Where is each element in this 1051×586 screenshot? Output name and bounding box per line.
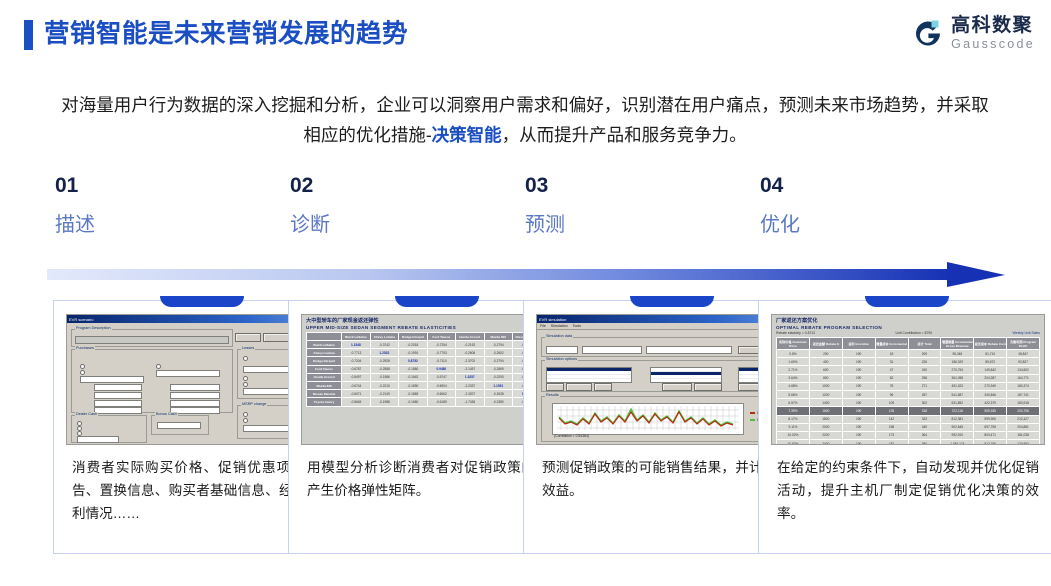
step-2: 02 诊断 (290, 175, 490, 235)
cell: 400 (809, 358, 842, 366)
optimal-rebate-table: 实际价格 Customer Price 返还金额 Rebate $ 返利 Inc… (776, 337, 1040, 445)
cell: 2.71% (777, 366, 810, 374)
table-row: 0.8% 200 190 18 209 95,348 81,710 48,847 (777, 350, 1040, 358)
step-4: 04 优化 (760, 175, 960, 235)
group-label-simulation-options: Simulation options (545, 357, 578, 361)
card-optimize[interactable]: 厂家返还方案优化 OPTIMAL REBATE PROGRAM SELECTIO… (758, 300, 1051, 554)
cell: -0.5645 (342, 398, 370, 406)
col-header: 方案利润 Program Profit (1007, 338, 1040, 350)
cell: -0.2606 (456, 349, 484, 357)
cell: 697,798 (974, 423, 1007, 431)
cell: -0.2602 (484, 349, 512, 357)
interval-select[interactable] (546, 346, 578, 354)
cell: 2200 (809, 431, 842, 439)
cell: 1.60% (777, 358, 810, 366)
cell: 4.68% (777, 382, 810, 390)
cell: -0.1642 (399, 373, 427, 381)
col-header: Ford Taurus (427, 333, 455, 341)
intro-paragraph: 对海量用户行为数据的深入挖掘和分析，企业可以洞察用户需求和偏好，识别潜在用户痛点… (55, 90, 995, 150)
cell: 270,754 (941, 366, 974, 374)
cell: 183,918 (1007, 399, 1040, 407)
cell: 380 (908, 440, 941, 445)
cell: 364 (908, 431, 941, 439)
cell: 1600 (809, 407, 842, 415)
cell: 318 (908, 407, 941, 415)
group-label-bonus-cash: Bonus Cash (155, 412, 178, 416)
step-3-label: 预测 (525, 215, 725, 235)
cell: 204,287 (974, 374, 1007, 382)
cell: 8.17% (777, 415, 810, 423)
cell: 190 (842, 407, 875, 415)
table-row: 3.64% 800 190 62 258 361,058 204,287 164… (777, 374, 1040, 382)
cell: 96 (875, 390, 908, 398)
col-header: Honda Accord (456, 333, 484, 341)
cell: 81,710 (974, 350, 1007, 358)
cell: -2.3702 (456, 357, 484, 365)
table-row: 10.93% 2400 190 187 380 1,083,174 912,18… (777, 440, 1040, 445)
scenario-row[interactable] (547, 375, 631, 379)
cell: 5.66% (777, 390, 810, 398)
rebate-elasticity-value: Rebate elasticity = 0.8712 (776, 331, 815, 336)
radio-no-apr-subvention[interactable] (80, 370, 85, 375)
cell: 89,672 (974, 358, 1007, 366)
col-header: Buick LeSabre (342, 333, 370, 341)
group-label-program-description: Program Description (75, 326, 112, 330)
col-header: 增量成本 Incremental (875, 338, 908, 350)
cell: 600 (809, 366, 842, 374)
row-header: Mazda 626 (307, 381, 342, 389)
col-header: 增量销量 Incremental Gross Revenue (941, 338, 974, 350)
cell: 0.8752 (399, 357, 427, 365)
group-purchases: Purchases (71, 349, 233, 413)
row-header: Ford Taurus (307, 365, 342, 373)
cell: 1800 (809, 415, 842, 423)
cell: 803,471 (974, 431, 1007, 439)
logo-mark-icon (912, 17, 944, 49)
segment-select[interactable] (582, 346, 642, 354)
logo-text: 高科数聚 Gausscode (951, 16, 1035, 51)
cell: 134,502 (1007, 366, 1040, 374)
step-1-number: 01 (55, 175, 255, 196)
simulation-title-text: EVR simulation (539, 317, 566, 322)
cell: 1.1591 (484, 381, 512, 389)
cell: 190 (842, 399, 875, 407)
card-tab-accent (865, 296, 949, 307)
cell: 10.93% (777, 440, 810, 445)
cell: -0.6062 (427, 390, 455, 398)
cell: 158 (875, 423, 908, 431)
card-tab-accent (160, 296, 244, 307)
region-select[interactable] (646, 346, 732, 354)
page-title: 营销智能是未来营销发展的趋势 (44, 22, 408, 48)
cell: 164,771 (1007, 374, 1040, 382)
cell: 422,379 (974, 399, 1007, 407)
table-row: 9.11% 2000 190 158 349 902,645 697,798 2… (777, 423, 1040, 431)
cell: 1000 (809, 382, 842, 390)
cell: -0.5747 (427, 373, 455, 381)
cell: -2.2337 (456, 381, 484, 389)
term-48-input[interactable] (94, 400, 142, 407)
cell: 302 (908, 399, 941, 407)
cell: 190 (842, 366, 875, 374)
card-screenshot-optimal: 厂家返还方案优化 OPTIMAL REBATE PROGRAM SELECTIO… (771, 314, 1045, 445)
cell: -0.2210 (370, 381, 398, 389)
col-header: 返利 Incentive (842, 338, 875, 350)
logo-name-cn: 高科数聚 (951, 16, 1035, 35)
group-label-dealer-cash: Dealer Cash (75, 412, 98, 416)
add-button[interactable] (546, 383, 564, 391)
simulation-line-chart (552, 403, 744, 435)
col-header: 总计 Total (908, 338, 941, 350)
col-header: Mazda 626 (484, 333, 512, 341)
cell: -0.7254 (427, 341, 455, 349)
cell: 181,038 (1007, 431, 1040, 439)
cell: 142 (875, 415, 908, 423)
table-header-row: 实际价格 Customer Price 返还金额 Rebate $ 返利 Inc… (777, 338, 1040, 350)
col-header: Chevy Lumina (370, 333, 398, 341)
cell: -0.1991 (399, 349, 427, 357)
intro-highlight: 决策智能 (432, 125, 502, 145)
cell: 451,323 (941, 382, 974, 390)
optimal-table-wrap: 厂家返还方案优化 OPTIMAL REBATE PROGRAM SELECTIO… (772, 315, 1044, 444)
cell: -0.5497 (342, 373, 370, 381)
cell: 190 (842, 358, 875, 366)
cell: 270,949 (974, 382, 1007, 390)
cell: 2000 (809, 423, 842, 431)
scenario-listbox[interactable] (546, 367, 632, 383)
step-4-number: 04 (760, 175, 960, 196)
weekly-unit-sales-label: Weekly Unit Sales (1013, 331, 1040, 336)
table-row: 1.60% 400 190 31 226 186,329 89,672 92,8… (777, 358, 1040, 366)
cell: -0.6189 (427, 398, 455, 406)
cell: 722,116 (941, 407, 974, 415)
table-row-highlighted: 7.39% 1600 190 125 318 722,116 509,335 2… (777, 407, 1040, 415)
cell: 47 (875, 366, 908, 374)
step-labels: 01 描述 02 诊断 03 预测 04 优化 (0, 175, 1051, 250)
step-1: 01 描述 (55, 175, 255, 235)
cell: 509,335 (974, 407, 1007, 415)
cell: 1,083,174 (941, 440, 974, 445)
radio-not-offered[interactable] (156, 364, 161, 369)
col-header: 返还成本 Rebate Cost (974, 338, 1007, 350)
cell: 631,852 (941, 399, 974, 407)
cell: 912,186 (974, 440, 1007, 445)
cell: 187,741 (1007, 390, 1040, 398)
cell: 78 (875, 382, 908, 390)
cell: -0.2293 (484, 373, 512, 381)
optimal-title-cn: 厂家返还方案优化 (776, 318, 1040, 325)
table-row: 8.17% 1800 190 142 333 812,381 599,906 2… (777, 415, 1040, 423)
cell: -0.2638 (484, 390, 512, 398)
group-label-purchases: Purchases (75, 346, 95, 350)
cell: 180,374 (1007, 382, 1040, 390)
cell: -0.3742 (370, 341, 398, 349)
cell: -0.2669 (484, 365, 512, 373)
row-header: Dodge Intrepid (307, 357, 342, 365)
brand-logo: 高科数聚 Gausscode (912, 16, 1035, 51)
cell: 271 (908, 382, 941, 390)
title-group: 营销智能是未来营销发展的趋势 (24, 20, 408, 50)
col-header: 实际价格 Customer Price (777, 338, 810, 350)
cell: -0.2794 (484, 341, 512, 349)
cell: -0.6904 (427, 381, 455, 389)
edit-button[interactable] (594, 383, 612, 391)
legend-swatch-estimated (750, 412, 755, 414)
bonus-cash-input[interactable] (157, 422, 201, 429)
radio-no-lease-subvention[interactable] (243, 356, 248, 361)
cell: 209 (908, 350, 941, 358)
row-header: Nissan Maxima (307, 390, 342, 398)
title-accent-bar (24, 20, 33, 50)
cell: 190 (842, 440, 875, 445)
term-36-rate-select[interactable] (170, 392, 220, 399)
slide: 营销智能是未来营销发展的趋势 高科数聚 Gausscode 对海量用户行为数据的… (0, 0, 1051, 586)
term-36-input[interactable] (94, 392, 142, 399)
table-row: 2.71% 600 190 47 240 270,754 149,842 134… (777, 366, 1040, 374)
cell: 3.64% (777, 374, 810, 382)
save-button[interactable] (235, 333, 261, 342)
cell: 190 (842, 374, 875, 382)
radio-msrp-percent[interactable] (243, 418, 248, 423)
table-row: 5.66% 1200 190 96 287 541,587 340,846 18… (777, 390, 1040, 398)
cell: 204,881 (1007, 423, 1040, 431)
model-listbox[interactable] (650, 367, 722, 383)
cell: -2.1497 (456, 365, 484, 373)
cell: -0.6744 (342, 381, 370, 389)
cell: 6.57% (777, 399, 810, 407)
group-bonus-cash: Bonus Cash (151, 415, 209, 435)
cell: -0.1869 (399, 390, 427, 398)
cell: 187 (875, 440, 908, 445)
radio-no-rebate[interactable] (80, 364, 85, 369)
row-header: Chevy Lumina (307, 349, 342, 357)
cell: 203,708 (1007, 407, 1040, 415)
cell: 599,906 (974, 415, 1007, 423)
cell: 190 (842, 415, 875, 423)
menu-tools[interactable]: Tools (573, 324, 581, 328)
cell: -0.1660 (399, 398, 427, 406)
cell: 541,587 (941, 390, 974, 398)
group-dealer-cash: Dealer Cash (71, 415, 147, 443)
progress-arrow-icon (47, 262, 1005, 288)
slide-header: 营销智能是未来营销发展的趋势 高科数聚 Gausscode (0, 0, 1051, 72)
cell: 0.9480 (427, 365, 455, 373)
row-header: Honda Accord (307, 373, 342, 381)
radio-apr[interactable] (243, 382, 248, 387)
cell: 125 (875, 407, 908, 415)
cell: 1.3257 (456, 373, 484, 381)
clear-all-button[interactable] (694, 383, 722, 391)
program-description-input[interactable] (75, 336, 229, 344)
cell: 186,329 (941, 358, 974, 366)
group-program-description: Program Description (71, 329, 233, 347)
cell: -0.2018 (399, 341, 427, 349)
cell: -0.2928 (370, 357, 398, 365)
optimal-subheader: Rebate elasticity = 0.8712 Unit Contribu… (776, 331, 1040, 336)
row-header: Buick LeSabre (307, 341, 342, 349)
cell: 10.02% (777, 431, 810, 439)
cell: 1400 (809, 399, 842, 407)
col-header: 返还金额 Rebate $ (809, 338, 842, 350)
col-header: Dodge Intrepid (399, 333, 427, 341)
cell: 190 (842, 431, 875, 439)
cell: 226 (908, 358, 941, 366)
cell: -0.7204 (342, 357, 370, 365)
logo-name-en: Gausscode (951, 38, 1035, 51)
step-2-label: 诊断 (290, 215, 490, 235)
cell: 190 (842, 382, 875, 390)
cell: 9.11% (777, 423, 810, 431)
card-tab-accent (395, 296, 479, 307)
cell: -0.1986 (370, 373, 398, 381)
radio-msrp-amount[interactable] (243, 412, 248, 417)
close-button[interactable] (263, 333, 289, 342)
menu-simulation[interactable]: Simulation (551, 324, 568, 328)
step-3: 03 预测 (525, 175, 725, 235)
combo-amount-input[interactable] (156, 370, 220, 377)
cell: 902,645 (941, 423, 974, 431)
cell: 170,992 (1007, 440, 1040, 445)
cell: 92,827 (1007, 358, 1040, 366)
step-4-label: 优化 (760, 215, 960, 235)
step-2-number: 02 (290, 175, 490, 196)
cell: 333 (908, 415, 941, 423)
cell: 361,058 (941, 374, 974, 382)
cell: 31 (875, 358, 908, 366)
cell: 173 (875, 431, 908, 439)
cell: 212,427 (1007, 415, 1040, 423)
cell: 200 (809, 350, 842, 358)
cell: -0.2794 (484, 357, 512, 365)
corner-cell (307, 333, 342, 341)
legend-swatch-actual (750, 419, 755, 421)
cell: -0.6787 (342, 365, 370, 373)
cell: 992,910 (941, 431, 974, 439)
dealer-cash-input[interactable] (77, 436, 119, 443)
cell: 258 (908, 374, 941, 382)
cell: -0.2588 (370, 365, 398, 373)
cell: -0.2380 (484, 398, 512, 406)
table-row: 6.57% 1400 190 109 302 631,852 422,379 1… (777, 399, 1040, 407)
cell: -0.2192 (456, 341, 484, 349)
select-all-button[interactable] (662, 383, 692, 391)
cell: -0.2149 (370, 390, 398, 398)
cell: -0.7713 (342, 349, 370, 357)
group-label-results: Results (545, 393, 560, 397)
menu-file[interactable]: File (540, 324, 546, 328)
correlation-note: (Correlation = 0.94384) (554, 434, 589, 438)
cell: 7.39% (777, 407, 810, 415)
cell: 95,348 (941, 350, 974, 358)
cell: 48,847 (1007, 350, 1040, 358)
cell: -0.7793 (427, 349, 455, 357)
group-label-leases: Leases (241, 346, 255, 350)
cell: 190 (842, 423, 875, 431)
remove-button[interactable] (566, 383, 592, 391)
card-4-caption: 在给定的约束条件下，自动发现并优化促销活动，提升主机厂制定促销优化决策的效率。 (777, 456, 1039, 525)
term-24-input[interactable] (94, 384, 142, 391)
cell: -0.1890 (399, 381, 427, 389)
card-tab-accent (630, 296, 714, 307)
cell: 190 (842, 390, 875, 398)
cell: 812,381 (941, 415, 974, 423)
cell: 18 (875, 350, 908, 358)
cell: 287 (908, 390, 941, 398)
group-label-simulation-data: Simulation data (545, 334, 573, 338)
step-3-number: 03 (525, 175, 725, 196)
cell: 2400 (809, 440, 842, 445)
intro-part-2: ，从而提升产品和服务竞争力。 (502, 125, 747, 145)
cell: -0.1988 (370, 398, 398, 406)
unit-contribution-value: Unit Contribution = $790 (896, 331, 933, 336)
cell: 109 (875, 399, 908, 407)
cell: 340,846 (974, 390, 1007, 398)
group-label-msrp-change: MSRP change (241, 402, 267, 406)
term-60-input[interactable] (94, 407, 142, 414)
table-row: 4.68% 1000 190 78 271 451,323 270,949 18… (777, 382, 1040, 390)
cell: 1200 (809, 390, 842, 398)
cell: 240 (908, 366, 941, 374)
cell: -0.7110 (427, 357, 455, 365)
cell: -1.7436 (456, 398, 484, 406)
cell: -0.6071 (342, 390, 370, 398)
cell: 800 (809, 374, 842, 382)
term-48-rate-select[interactable] (170, 400, 220, 407)
dialog-title-text: EVR scenario (69, 317, 93, 322)
term-24-rate-select[interactable] (170, 384, 220, 391)
cell: 62 (875, 374, 908, 382)
cell: 149,842 (974, 366, 1007, 374)
radio-money-factor[interactable] (243, 376, 248, 381)
purchase-amount-input[interactable] (80, 376, 144, 383)
cell: -2.3207 (456, 390, 484, 398)
cell: -0.1860 (399, 365, 427, 373)
cell: 0.8% (777, 350, 810, 358)
row-header: Toyota Camry (307, 398, 342, 406)
cell: 1.2522 (370, 349, 398, 357)
table-row: 10.02% 2200 190 173 364 992,910 803,471 … (777, 431, 1040, 439)
cell: 349 (908, 423, 941, 431)
step-1-label: 描述 (55, 215, 255, 235)
cell: 190 (842, 350, 875, 358)
cell: 1.1548 (342, 341, 370, 349)
